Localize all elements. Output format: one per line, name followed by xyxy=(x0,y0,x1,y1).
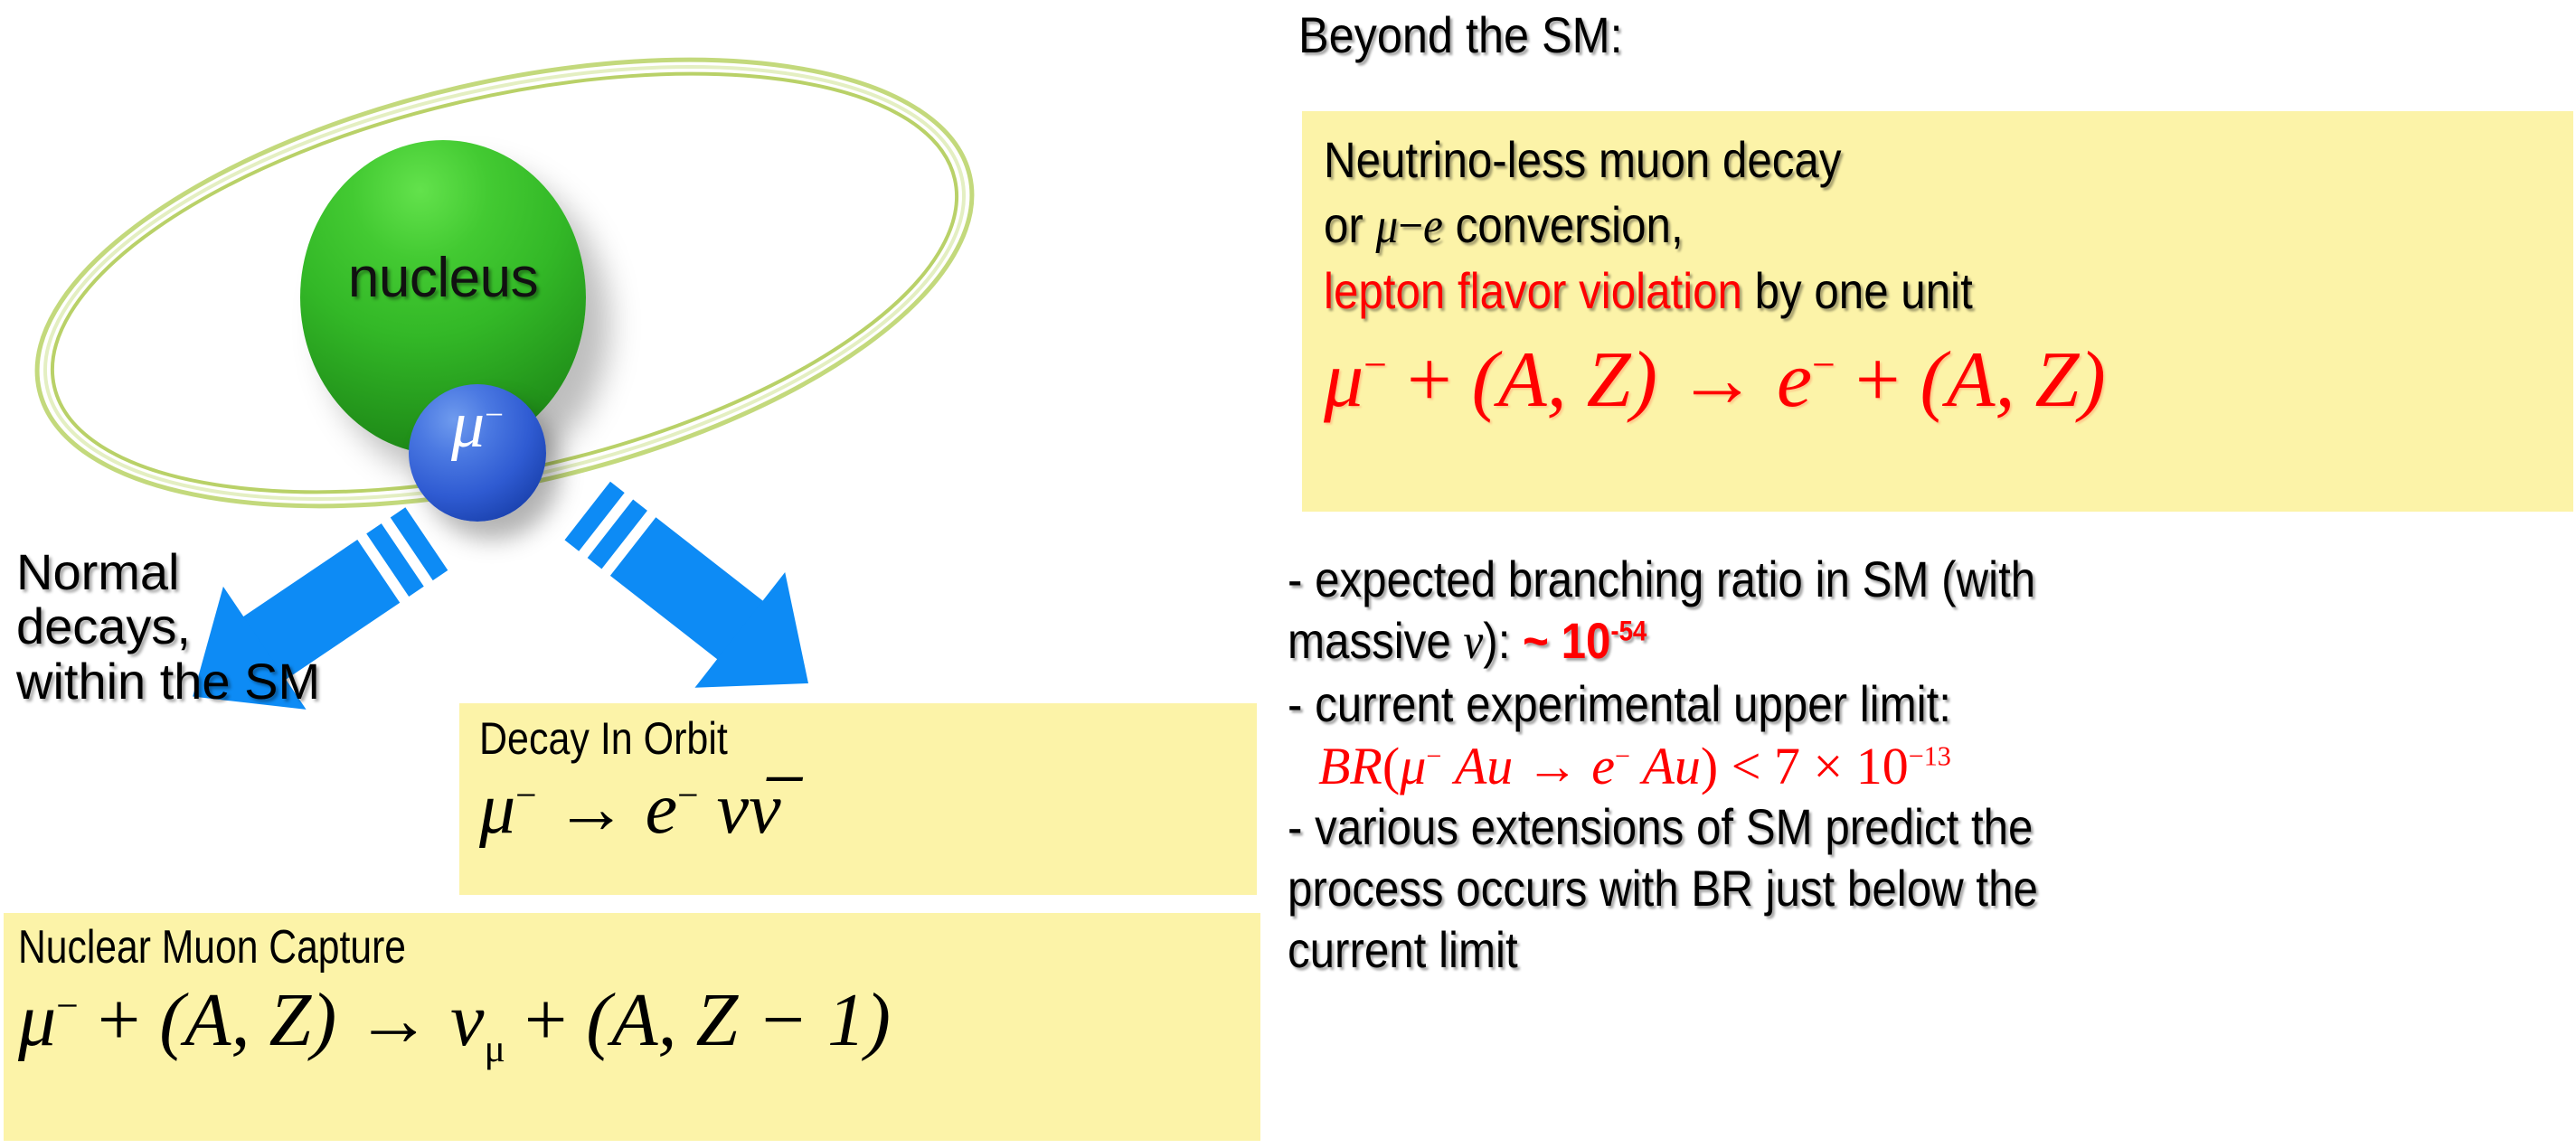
slide-canvas: nucleus μ− xyxy=(0,0,2576,1148)
br-upper-limit-formula: BR(μ− Au → e− Au) < 7 × 10−13 xyxy=(1318,736,2571,796)
dio-minus-1: − xyxy=(515,774,536,815)
bullet-list: - expected branching ratio in SM (with m… xyxy=(1288,549,2571,981)
decay-in-orbit-box: Decay In Orbit μ− → e− νν̅ xyxy=(459,703,1257,895)
bsm-minus-2: − xyxy=(1812,342,1835,388)
bullet-extensions-line-3: current limit xyxy=(1288,919,2418,981)
bullet-current-limit-line-1: - current experimental upper limit: xyxy=(1288,673,2418,735)
bullet-1-mid: ): xyxy=(1483,612,1523,669)
bsm-line-2-prefix: or xyxy=(1324,196,1376,253)
nmc-nu: ν xyxy=(450,978,484,1062)
br-times: × xyxy=(1813,737,1843,795)
bsm-arrow: → xyxy=(1677,336,1757,424)
bsm-line-2: or μ−e conversion, xyxy=(1324,193,2423,259)
bsm-mu: μ xyxy=(1324,336,1363,424)
br-arrow: → xyxy=(1526,737,1579,795)
massive-prefix: massive xyxy=(1288,612,1463,669)
expected-br-mantissa: ~ 10 xyxy=(1523,612,1610,669)
lepton-flavor-violation-text: lepton flavor violation xyxy=(1324,262,1742,319)
bsm-plus-1: + xyxy=(1407,336,1452,424)
br-e: e xyxy=(1591,737,1615,795)
br-minus-2: − xyxy=(1615,741,1630,772)
nmc-mu: μ xyxy=(18,978,56,1062)
bsm-line-2-dash: − xyxy=(1398,198,1423,254)
normal-decays-line-3: within the SM xyxy=(16,654,320,709)
bsm-e: e xyxy=(1777,336,1812,424)
normal-decays-line-2: decays, xyxy=(16,599,320,654)
bullet-extensions-line-2: process occurs with BR just below the xyxy=(1288,858,2418,919)
dio-minus-2: − xyxy=(677,774,698,815)
beyond-sm-formula: μ− + (A, Z) → e− + (A, Z) xyxy=(1324,334,2573,426)
nmc-target: (A, Z) xyxy=(159,978,336,1062)
bsm-line-1: Neutrino-less muon decay xyxy=(1324,127,2423,193)
beyond-sm-heading: Beyond the SM: xyxy=(1298,5,1623,64)
nmc-nu-subscript: μ xyxy=(484,1027,505,1070)
nmc-product: (A, Z − 1) xyxy=(586,978,891,1062)
muon-charge-glyph: − xyxy=(485,397,504,434)
bsm-minus-1: − xyxy=(1363,342,1387,388)
bsm-product: (A, Z) xyxy=(1920,336,2105,424)
br-mu: μ xyxy=(1400,737,1426,795)
bsm-line-3-black: by one unit xyxy=(1742,262,1973,319)
muon-label: μ− xyxy=(409,387,546,464)
nmc-plus-2: + xyxy=(524,978,567,1062)
br-base-ten: 10 xyxy=(1856,737,1909,795)
beyond-sm-box: Neutrino-less muon decay or μ−e conversi… xyxy=(1302,111,2573,512)
br-au-2: Au xyxy=(1642,737,1700,795)
dio-mu: μ xyxy=(479,769,515,849)
expected-br-value: ~ 10-54 xyxy=(1523,612,1647,669)
bsm-line-3: lepton flavor violation by one unit xyxy=(1324,259,2423,324)
br-symbol: BR xyxy=(1318,737,1382,795)
br-open-paren: ( xyxy=(1382,737,1400,795)
normal-decays-label: Normal decays, within the SM xyxy=(16,545,320,709)
nuclear-muon-capture-formula: μ− + (A, Z) → νμ + (A, Z − 1) xyxy=(18,976,1260,1071)
br-minus-1: − xyxy=(1426,741,1441,772)
bullet-expected-br-line-2: massive ν): ~ 10-54 xyxy=(1288,610,2418,673)
decay-in-orbit-formula: μ− → e− νν̅ xyxy=(479,768,1257,851)
bullet-extensions-line-1: - various extensions of SM predict the xyxy=(1288,796,2418,858)
nmc-minus: − xyxy=(56,984,79,1028)
bsm-line-2-mu: μ xyxy=(1376,198,1399,254)
nuclear-muon-capture-title: Nuclear Muon Capture xyxy=(18,920,1037,974)
br-exponent: −13 xyxy=(1909,741,1951,772)
dio-e: e xyxy=(646,769,678,849)
dio-arrow: → xyxy=(555,769,627,849)
nmc-plus-1: + xyxy=(98,978,140,1062)
bullet-expected-br-line-1: - expected branching ratio in SM (with xyxy=(1288,549,2418,610)
bsm-line-2-e: e xyxy=(1423,198,1443,254)
dio-nu: ν xyxy=(717,769,750,849)
muon-glyph: μ xyxy=(451,388,485,462)
br-coefficient: 7 xyxy=(1774,737,1800,795)
nmc-arrow: → xyxy=(355,978,431,1062)
nuclear-muon-capture-box: Nuclear Muon Capture μ− + (A, Z) → νμ + … xyxy=(4,913,1260,1141)
bsm-target: (A, Z) xyxy=(1472,336,1657,424)
bsm-plus-2: + xyxy=(1855,336,1901,424)
br-au-1: Au xyxy=(1455,737,1513,795)
br-close-paren: ) xyxy=(1701,737,1718,795)
decay-in-orbit-title: Decay In Orbit xyxy=(479,712,1148,765)
nucleus-label: nucleus xyxy=(300,246,586,310)
normal-decays-line-1: Normal xyxy=(16,545,320,599)
dio-nubar: ν̅ xyxy=(749,769,781,849)
br-less-than: < xyxy=(1731,737,1761,795)
expected-br-exponent: -54 xyxy=(1610,615,1647,646)
bsm-line-2-suffix: conversion, xyxy=(1443,196,1684,253)
neutrino-glyph: ν xyxy=(1463,614,1483,670)
